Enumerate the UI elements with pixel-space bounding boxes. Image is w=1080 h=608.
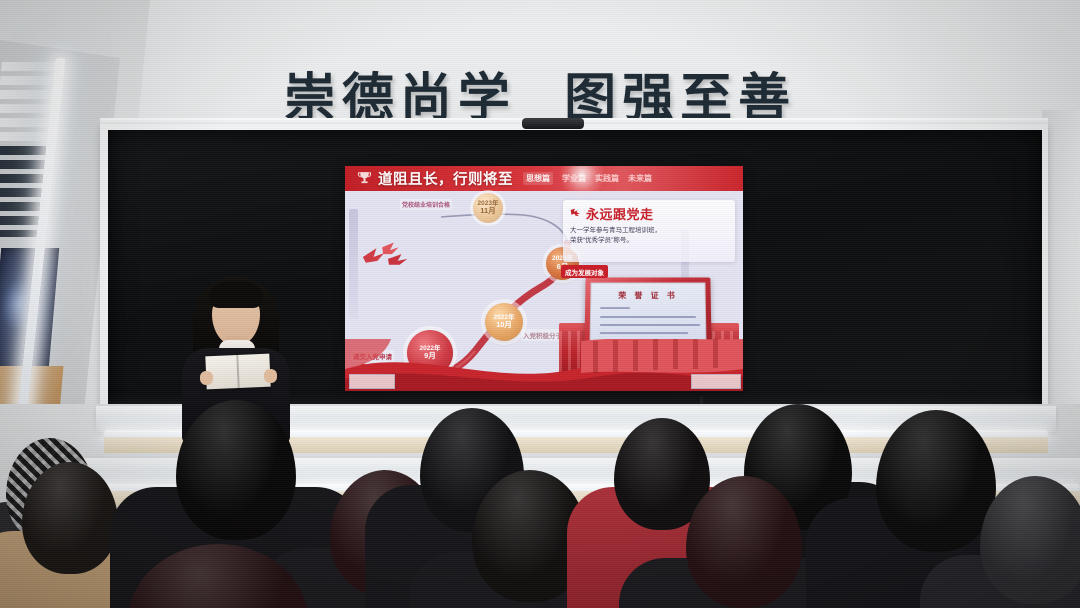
timeline-caption-top: 党校结业培训合格 [400,199,452,210]
slide-tab-0[interactable]: 思想篇 [523,172,553,185]
party-card-header: 永远跟党走 [563,200,735,223]
certificate-heading: 荣 誉 证 书 [618,290,677,301]
timeline-node-1: 2022年 10月 [485,303,523,341]
slide-header-bar: 道阻且长，行则将至 思想篇学业篇实践篇未来篇 [345,166,743,191]
certificate-label: 成为发展对象 [561,265,608,278]
ceiling-camera-bar [522,118,584,129]
audience-head [22,462,118,574]
presentation-slide: 道阻且长，行则将至 思想篇学业篇实践篇未来篇 2022年 9月 [345,166,743,391]
presenter-hand-right [264,369,277,383]
presenter-speech-paper [205,354,270,390]
slide-footer-chip-right [691,374,741,389]
classroom-photo: 崇德尚学 图强至善 道阻且长，行则将至 思想篇学业篇实践篇未来篇 [0,0,1080,608]
presenter-bangs [209,282,263,308]
timeline-node-3: 2023年 11月 [473,193,503,223]
party-emblem-icon [569,207,582,220]
node-3-month: 11月 [480,207,495,215]
red-ribbon-decoration [345,339,743,391]
presenter-hand-left [200,371,213,385]
certificate-inner: 荣 誉 证 书 [589,282,706,344]
audience-head [686,476,802,608]
slide-title: 道阻且长，行则将至 [378,168,513,189]
slide-tab-2[interactable]: 实践篇 [595,173,619,184]
slide-body: 2022年 9月 2022年 10月 2023年 6月 2023年 11月 递交… [345,191,743,391]
trophy-icon [356,170,373,187]
party-card-body: 大一学年参与青马工程培训班， 荣获“优秀学员”称号。 [563,223,735,246]
slide-tab-3[interactable]: 未来篇 [628,173,652,184]
slide-tab-list[interactable]: 思想篇学业篇实践篇未来篇 [523,172,652,185]
party-card-line-1: 大一学年参与青马工程培训班， [570,226,728,236]
slide-footer-chip-left [349,374,395,389]
party-card-title: 永远跟党走 [586,204,654,223]
node-1-month: 10月 [496,321,512,329]
party-card-line-2: 荣获“优秀学员”称号。 [570,236,728,246]
slide-tab-1[interactable]: 学业篇 [562,173,586,184]
party-info-card: 永远跟党走 大一学年参与青马工程培训班， 荣获“优秀学员”称号。 [563,200,735,262]
